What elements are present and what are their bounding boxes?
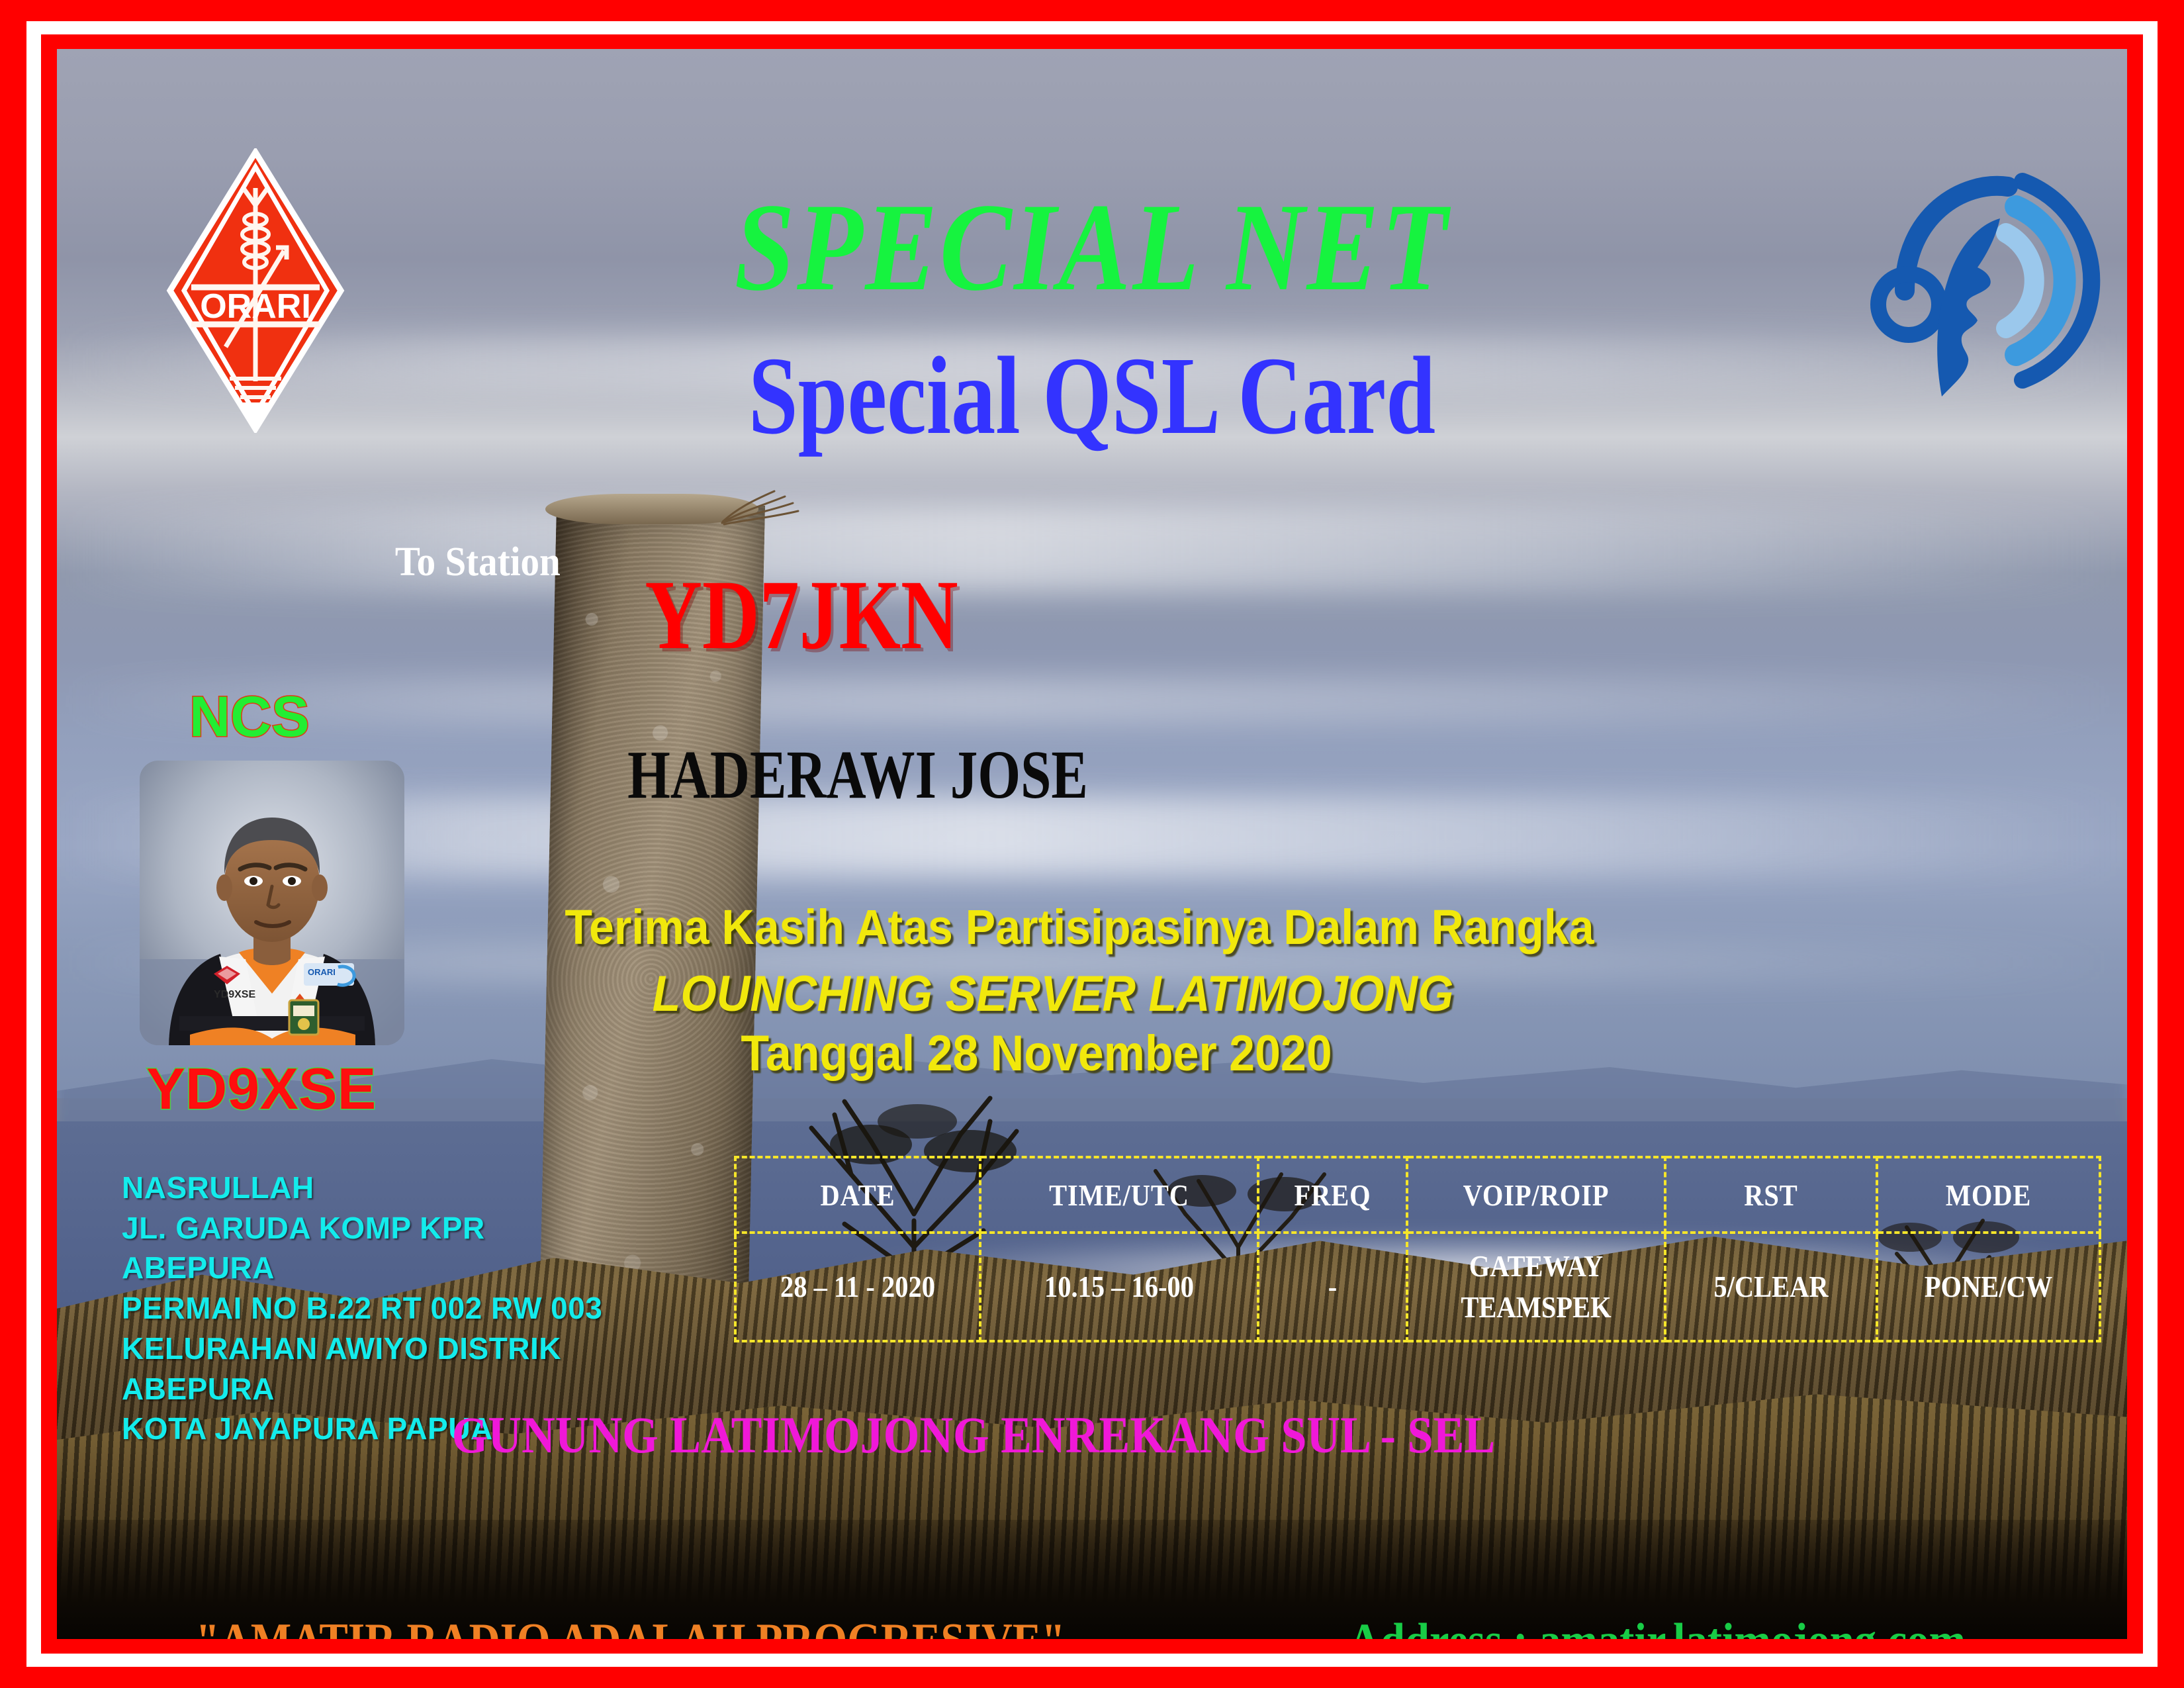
column-header-freq: FREQ xyxy=(1267,1157,1398,1233)
address-line: NASRULLAH xyxy=(122,1168,602,1208)
card-background-photo: ORARI SPECIAL NET Special QSL Card xyxy=(57,49,2127,1639)
column-header-voip-roip: VOIP/ROIP xyxy=(1422,1157,1649,1233)
address-line: ABEPURA xyxy=(122,1369,602,1409)
table-header-row: DATE TIME/UTC FREQ VOIP/ROIP RST MODE xyxy=(735,1157,2100,1233)
footer-motto: "AMATIR RADIO ADALAH PROGRESIVE" xyxy=(196,1617,1066,1639)
page-subtitle-qsl-card: Special QSL Card xyxy=(264,340,1920,451)
ncs-label: NCS xyxy=(189,684,310,750)
address-line: JL. GARUDA KOMP KPR xyxy=(122,1208,602,1248)
address-line: ABEPURA xyxy=(122,1248,602,1288)
address-line: PERMAI NO B.22 RT 002 RW 003 xyxy=(122,1288,602,1329)
footer-address: Address : amatir.latimojong.com xyxy=(1349,1617,1966,1639)
date-day: 28 xyxy=(927,1025,979,1082)
column-header-time-utc: TIME/UTC xyxy=(997,1157,1242,1233)
cell-date: 28 – 11 - 2020 xyxy=(750,1233,966,1341)
operator-name: HADERAWI JOSE xyxy=(217,741,1498,810)
address-line: KELURAHAN AWIYO DISTRIK xyxy=(122,1329,602,1369)
cell-mode: PONE/CW xyxy=(1890,1233,2087,1341)
thanks-message: Terima Kasih Atas Partisipasinya Dalam R… xyxy=(139,903,2021,952)
page-title-special-net: SPECIAL NET xyxy=(202,185,1982,310)
date-label: Tanggal xyxy=(741,1025,915,1082)
table-row: 28 – 11 - 2020 10.15 – 16-00 - GATEWAY T… xyxy=(735,1233,2100,1341)
cell-voip-roip: GATEWAY TEAMSPEK xyxy=(1422,1233,1649,1341)
event-name: LOUNCHING SERVER LATIMOJONG xyxy=(136,969,1969,1019)
cell-voip-roip-line1: GATEWAY xyxy=(1424,1246,1649,1287)
cloud-band xyxy=(57,678,2127,724)
date-year: 2020 xyxy=(1229,1025,1332,1082)
pillar-grass-tuft xyxy=(719,479,818,526)
event-date: Tanggal28November2020 xyxy=(135,1029,1937,1079)
column-header-date: DATE xyxy=(750,1157,966,1233)
column-header-mode: MODE xyxy=(1890,1157,2087,1233)
cell-voip-roip-line2: TEAMSPEK xyxy=(1424,1287,1649,1328)
station-callsign: YD7JKN xyxy=(206,565,1397,665)
location-text: GUNUNG LATIMOJONG ENREKANG SUL - SEL xyxy=(149,1409,1799,1461)
qsl-card: ORARI SPECIAL NET Special QSL Card xyxy=(0,0,2184,1688)
cell-freq: - xyxy=(1267,1233,1398,1341)
cell-time-utc: 10.15 – 16-00 xyxy=(997,1233,1242,1341)
qso-log-table: DATE TIME/UTC FREQ VOIP/ROIP RST MODE 28… xyxy=(734,1156,2101,1342)
cell-rst: 5/CLEAR xyxy=(1678,1233,1864,1341)
column-header-rst: RST xyxy=(1678,1157,1864,1233)
date-month: November xyxy=(991,1025,1217,1082)
